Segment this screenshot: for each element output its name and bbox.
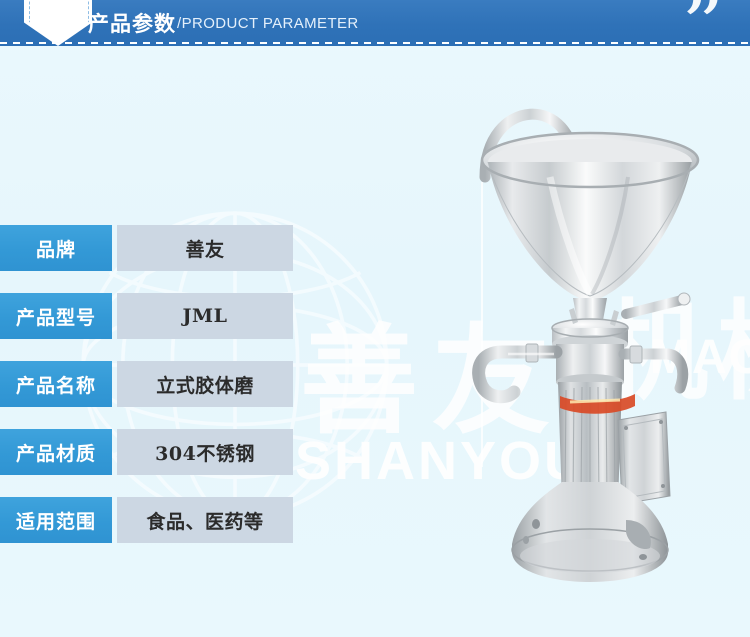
spec-key: 产品材质 xyxy=(0,429,112,475)
table-row: 产品材质 304不锈钢 xyxy=(0,429,300,475)
table-row: 产品名称 立式胶体磨 xyxy=(0,361,300,407)
vertical-colloid-mill-photo xyxy=(430,52,750,612)
product-parameter-page: 善友 机械 SHANYOU MACHINERY xyxy=(0,0,750,637)
spec-table: 品牌 善友 产品型号 JML 产品名称 立式胶体磨 产品材质 304不锈钢 适用… xyxy=(0,225,300,565)
grinding-head xyxy=(552,308,628,390)
quotation-mark-icon: ” xyxy=(681,0,725,46)
header-dashed-divider xyxy=(0,42,750,44)
spec-value: 304不锈钢 xyxy=(117,429,293,475)
spec-key: 产品型号 xyxy=(0,293,112,339)
side-handle xyxy=(626,293,690,314)
spec-value: 食品、医药等 xyxy=(117,497,293,543)
spec-value: 善友 xyxy=(117,225,293,271)
table-row: 适用范围 食品、医药等 xyxy=(0,497,300,543)
stainless-steel-cone-hopper xyxy=(482,133,698,326)
page-title-cn: 产品参数 xyxy=(88,8,176,38)
adjustment-handle xyxy=(624,346,683,388)
page-header: 产品参数 /PRODUCT PARAMETER ” xyxy=(0,0,750,46)
page-title-en: /PRODUCT PARAMETER xyxy=(177,15,359,32)
spec-value: JML xyxy=(117,293,293,339)
spec-value: 立式胶体磨 xyxy=(117,361,293,407)
spec-key: 适用范围 xyxy=(0,497,112,543)
page-title: 产品参数 /PRODUCT PARAMETER xyxy=(88,4,359,42)
spec-key: 产品名称 xyxy=(0,361,112,407)
table-row: 品牌 善友 xyxy=(0,225,300,271)
table-row: 产品型号 JML xyxy=(0,293,300,339)
spec-key: 品牌 xyxy=(0,225,112,271)
